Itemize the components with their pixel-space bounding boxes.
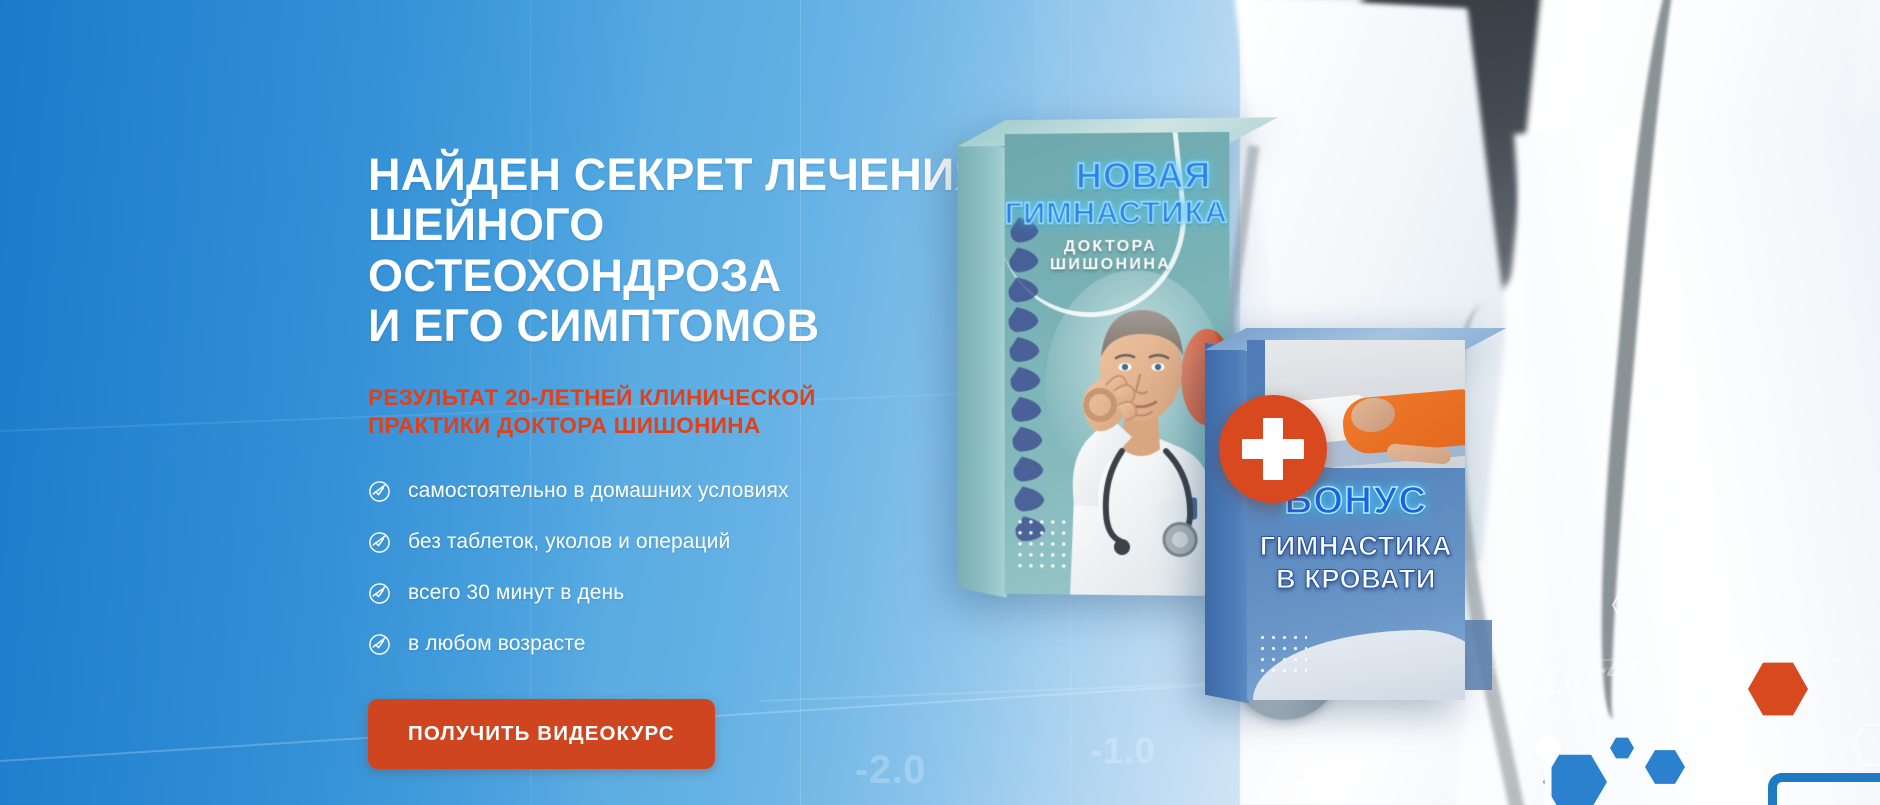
plus-icon (1219, 395, 1327, 503)
bonus-line1: ГИМНАСТИКА (1247, 531, 1465, 562)
list-item-label: всего 30 минут в день (408, 581, 624, 605)
check-circle-icon (368, 480, 391, 503)
list-item-label: в любом возрасте (408, 632, 586, 656)
product-box-bonus[interactable]: БОНУС ГИМНАСТИКА В КРОВАТИ (1247, 340, 1465, 700)
check-circle-icon (368, 531, 391, 554)
plus-horizontal-bar (1242, 439, 1304, 459)
get-videocourse-button[interactable]: ПОЛУЧИТЬ ВИДЕОКУРС (368, 699, 715, 769)
box-dots-decor (1015, 516, 1069, 568)
bonus-box-front-panel: БОНУС ГИМНАСТИКА В КРОВАТИ (1247, 340, 1465, 700)
list-item: всего 30 минут в день (368, 581, 1008, 605)
bonus-dots-decor (1257, 632, 1307, 678)
list-item: без таблеток, уколов и операций (368, 530, 1008, 554)
bonus-box-side-panel (1205, 343, 1249, 704)
page-title: НАЙДЕН СЕКРЕТ ЛЕЧЕНИЯ ШЕЙНОГО ОСТЕОХОНДР… (368, 150, 1008, 352)
box-title-line2: ГИМНАСТИКА (1005, 194, 1212, 231)
hero-banner: -3.0 -2.0 -1.0 0.0 +1.0 +2.0 +3.0 +3.0 +… (0, 0, 1880, 805)
product-box-main[interactable]: НОВАЯ ГИМНАСТИКА ДОКТОРА ШИШОНИНА (1005, 132, 1230, 596)
list-item-label: самостоятельно в домашних условиях (408, 479, 789, 503)
map-pin-icon (1704, 695, 1734, 805)
polyline-decor (1768, 773, 1880, 805)
box-side-panel (957, 139, 1006, 598)
check-circle-icon (368, 633, 391, 656)
hero-content: НАЙДЕН СЕКРЕТ ЛЕЧЕНИЯ ШЕЙНОГО ОСТЕОХОНДР… (368, 150, 1008, 769)
hexagon-outline-icon (1852, 723, 1880, 767)
box-title: НОВАЯ ГИМНАСТИКА (1005, 154, 1220, 232)
bonus-line2: В КРОВАТИ (1247, 564, 1465, 595)
box-front-panel: НОВАЯ ГИМНАСТИКА ДОКТОРА ШИШОНИНА (1005, 132, 1230, 596)
check-circle-icon (368, 582, 391, 605)
list-item-label: без таблеток, уколов и операций (408, 530, 730, 554)
list-item: в любом возрасте (368, 632, 1008, 656)
page-subtitle: РЕЗУЛЬТАТ 20-ЛЕТНЕЙ КЛИНИЧЕСКОЙ ПРАКТИКИ… (368, 384, 1008, 442)
box-title-line1: НОВАЯ (1005, 154, 1212, 198)
benefits-list: самостоятельно в домашних условиях без т… (368, 479, 1008, 656)
map-pin-icon (1534, 735, 1562, 805)
list-item: самостоятельно в домашних условиях (368, 479, 1008, 503)
hexagon-outline-icon (1612, 585, 1654, 625)
